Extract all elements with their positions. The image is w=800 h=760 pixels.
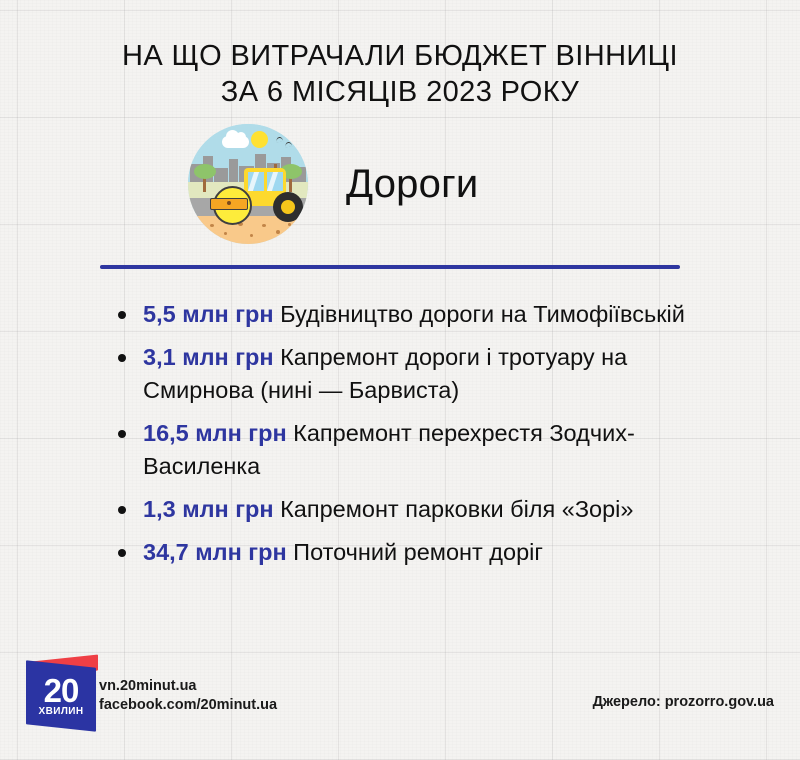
icon-cloud — [222, 136, 249, 148]
brand-logo: 20 ХВИЛИН — [26, 658, 104, 730]
facebook-url[interactable]: facebook.com/20minut.ua — [99, 696, 277, 715]
bullet-icon — [118, 430, 126, 438]
spend-amount: 3,1 млн грн — [143, 344, 274, 370]
road-roller-construction-icon — [188, 124, 308, 244]
bullet-icon — [118, 354, 126, 362]
list-item: 16,5 млн грн Капремонт перехрестя Зодчих… — [110, 417, 730, 483]
bullet-icon — [118, 311, 126, 319]
site-links: vn.20minut.ua facebook.com/20minut.ua — [99, 677, 277, 715]
spend-description: Поточний ремонт доріг — [293, 539, 543, 565]
logo-number: 20 — [44, 675, 79, 706]
category-header: Дороги — [188, 124, 478, 244]
logo-wordmark: ХВИЛИН — [39, 706, 84, 718]
spend-description: Будівництво дороги на Тимофіївській — [280, 301, 685, 327]
category-label: Дороги — [346, 162, 478, 207]
spend-description: Капремонт парковки біля «Зорі» — [280, 496, 633, 522]
list-item: 5,5 млн грн Будівництво дороги на Тимофі… — [110, 298, 730, 331]
infographic-poster: НА ЩО ВИТРАЧАЛИ БЮДЖЕТ ВІННИЦІ ЗА 6 МІСЯ… — [0, 0, 800, 760]
spend-amount: 5,5 млн грн — [143, 301, 274, 327]
list-item: 1,3 млн грн Капремонт парковки біля «Зор… — [110, 493, 730, 526]
source-attribution: Джерело: prozorro.gov.ua — [593, 694, 774, 710]
icon-sun — [251, 131, 268, 148]
section-divider — [100, 265, 680, 269]
icon-roller-wheel-hub — [281, 200, 295, 214]
logo-blue-panel: 20 ХВИЛИН — [26, 660, 96, 731]
spend-amount: 16,5 млн грн — [143, 420, 287, 446]
icon-tree-foliage — [194, 164, 216, 179]
site-url[interactable]: vn.20minut.ua — [99, 677, 277, 696]
bullet-icon — [118, 549, 126, 557]
list-item: 3,1 млн грн Капремонт дороги і тротуару … — [110, 341, 730, 407]
icon-bird — [285, 142, 293, 148]
bullet-icon — [118, 506, 126, 514]
title-line-1: НА ЩО ВИТРАЧАЛИ БЮДЖЕТ ВІННИЦІ — [0, 38, 800, 74]
spend-amount: 1,3 млн грн — [143, 496, 274, 522]
spending-list: 5,5 млн грн Будівництво дороги на Тимофі… — [110, 298, 730, 579]
list-item: 34,7 млн грн Поточний ремонт доріг — [110, 536, 730, 569]
footer: 20 ХВИЛИН vn.20minut.ua facebook.com/20m… — [0, 650, 800, 760]
title-line-2: ЗА 6 МІСЯЦІВ 2023 РОКУ — [0, 74, 800, 110]
spend-amount: 34,7 млн грн — [143, 539, 287, 565]
page-title: НА ЩО ВИТРАЧАЛИ БЮДЖЕТ ВІННИЦІ ЗА 6 МІСЯ… — [0, 38, 800, 110]
icon-bird — [276, 137, 284, 143]
